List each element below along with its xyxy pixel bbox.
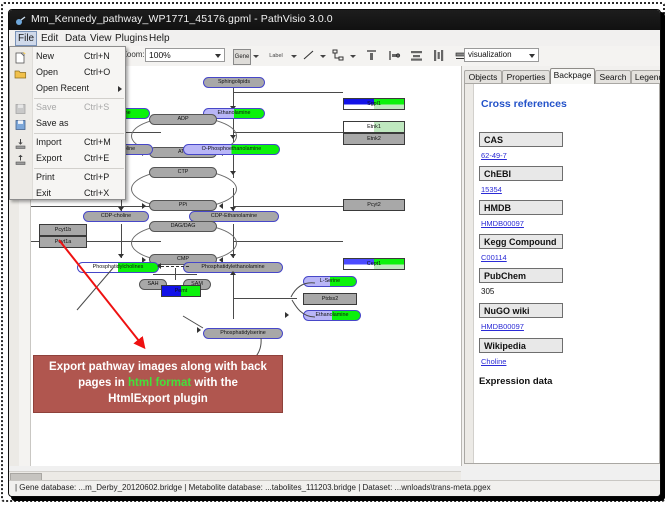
xref-value-pubchem: 305: [481, 287, 494, 296]
pathvisio-application-window: Mm_Kennedy_pathway_WP1771_45176.gpml - P…: [8, 9, 661, 497]
xref-label-chebi: ChEBI: [479, 166, 563, 181]
xref-value-wikipedia[interactable]: Choline: [481, 357, 506, 366]
xref-value-chebi[interactable]: 15354: [481, 185, 502, 194]
zoom-value: 100%: [149, 50, 171, 60]
chevron-down-icon: [215, 54, 221, 58]
menu-item-exit-accel: Ctrl+X: [84, 188, 109, 198]
submenu-arrow-icon: [118, 86, 122, 92]
menu-item-exit-label: Exit: [36, 188, 51, 198]
callout-highlight: html format: [128, 377, 191, 389]
callout-line-1: Export pathway images along with back: [34, 361, 282, 373]
callout-line-3: HtmlExport plugin: [34, 393, 282, 405]
menu-separator-3: [34, 168, 124, 169]
menu-view[interactable]: View: [87, 32, 115, 45]
menu-item-print[interactable]: Print Ctrl+P: [10, 171, 127, 185]
tab-backpage[interactable]: Backpage: [550, 68, 595, 84]
gene-pemt[interactable]: Pemt: [161, 285, 201, 297]
connector-dropdown-icon[interactable]: [350, 55, 356, 58]
arrow-to-ethanolamine-2: [285, 312, 289, 318]
new-document-icon: [14, 51, 27, 63]
node-o-phosphoethanolamine[interactable]: O-Phosphoethanolamine: [183, 144, 280, 155]
expression-data-heading: Expression data: [479, 376, 552, 387]
menu-item-save-as-label: Save as: [36, 118, 69, 128]
gene-pcyt1b[interactable]: Pcyt1b: [39, 224, 87, 236]
node-ppi[interactable]: PPi: [149, 200, 217, 211]
datanode-tool-button[interactable]: Gene: [233, 49, 251, 65]
xref-label-nugo: NuGO wiki: [479, 303, 563, 318]
tab-objects[interactable]: Objects: [464, 70, 502, 84]
menu-item-save-label: Save: [36, 102, 57, 112]
curved-edges-serine: [271, 271, 317, 326]
visualization-combobox[interactable]: visualization: [464, 48, 539, 62]
edge-sgpl1-connector: [233, 92, 343, 93]
menu-item-open-recent-label: Open Recent: [36, 83, 89, 93]
gene-sgpl1-label: Sgpl1: [367, 101, 381, 107]
xref-value-kegg[interactable]: C00114: [481, 253, 507, 262]
gene-etnk1[interactable]: Etnk1: [343, 121, 405, 133]
import-icon: [14, 137, 27, 149]
connector-tool-icon[interactable]: [331, 49, 345, 63]
menu-item-new-accel: Ctrl+N: [84, 51, 110, 61]
file-menu-dropdown[interactable]: New Ctrl+N Open Ctrl+O Open Recent Save: [9, 46, 126, 200]
gene-pcyt2[interactable]: Pcyt2: [343, 199, 405, 211]
menu-item-print-accel: Ctrl+P: [84, 172, 109, 182]
menu-separator-2: [34, 133, 124, 134]
callout-line-2: pages in html format with the: [34, 377, 282, 389]
edge-to-phosphatidylserine: [181, 314, 231, 334]
align-rows-icon[interactable]: [409, 49, 423, 63]
title-bar: Mm_Kennedy_pathway_WP1771_45176.gpml - P…: [9, 10, 660, 31]
gene-sgpl1[interactable]: Sgpl1: [343, 98, 405, 110]
status-bar: | Gene database: ...m_Derby_20120602.bri…: [9, 480, 660, 496]
menu-plugins[interactable]: Plugins: [112, 32, 151, 45]
pathvisio-icon: [15, 14, 27, 26]
gene-cept1-label: Cept1: [367, 261, 381, 267]
menu-item-import[interactable]: Import Ctrl+M: [10, 136, 127, 150]
chevron-down-icon: [529, 54, 535, 58]
menu-separator-1: [34, 98, 124, 99]
menu-item-exit[interactable]: Exit Ctrl+X: [10, 187, 127, 201]
open-folder-icon: [14, 67, 27, 79]
align-top-icon[interactable]: [364, 49, 378, 63]
menu-item-open[interactable]: Open Ctrl+O: [10, 66, 127, 80]
xref-label-kegg: Kegg Compound: [479, 234, 563, 249]
gene-etnk2[interactable]: Etnk2: [343, 133, 405, 145]
node-sphingolipids[interactable]: Sphingolipids: [203, 77, 265, 88]
menu-item-new[interactable]: New Ctrl+N: [10, 50, 127, 64]
backpage-scrollbar[interactable]: [465, 84, 474, 463]
cross-references-heading: Cross references: [481, 98, 567, 110]
edge-pcyt2-connector: [233, 206, 343, 207]
menu-help[interactable]: Help: [146, 32, 173, 45]
side-panel-tabs: Objects Properties Backpage Search Legen…: [464, 68, 660, 84]
menu-item-export[interactable]: Export Ctrl+E: [10, 152, 127, 166]
node-dag[interactable]: DAG/DAG: [149, 221, 217, 232]
menu-bar: File Edit Data View Plugins Help: [9, 30, 660, 47]
arrow-ope-to-cdpetn: [230, 171, 236, 175]
arrow-into-phosphatidylserine: [197, 327, 201, 333]
xref-label-wikipedia: Wikipedia: [479, 338, 563, 353]
menu-edit[interactable]: Edit: [38, 32, 61, 45]
menu-item-import-label: Import: [36, 137, 62, 147]
callout-line2-suffix: with the: [191, 377, 238, 389]
menu-file[interactable]: File: [15, 31, 37, 46]
edge-etnk-connector: [233, 132, 343, 133]
menu-item-open-recent[interactable]: Open Recent: [10, 82, 127, 96]
node-adp[interactable]: ADP: [149, 114, 217, 125]
arrow-into-ppi-right: [219, 203, 223, 209]
window-title: Mm_Kennedy_pathway_WP1771_45176.gpml - P…: [31, 13, 333, 25]
xref-value-hmdb[interactable]: HMDB00097: [481, 219, 524, 228]
node-cdp-choline[interactable]: CDP-choline: [83, 211, 149, 222]
menu-item-save: Save Ctrl+S: [10, 101, 127, 115]
xref-label-pubchem: PubChem: [479, 268, 563, 283]
menu-item-export-accel: Ctrl+E: [84, 153, 109, 163]
screenshot-root: Mm_Kennedy_pathway_WP1771_45176.gpml - P…: [0, 0, 670, 509]
gene-cept1[interactable]: Cept1: [343, 258, 405, 270]
xref-value-cas[interactable]: 62-49-7: [481, 151, 507, 160]
tab-legend[interactable]: Legend: [631, 70, 661, 84]
menu-item-print-label: Print: [36, 172, 55, 182]
backpage-content: Cross references CAS 62-49-7 ChEBI 15354…: [464, 83, 660, 464]
gene-pemt-label: Pemt: [175, 288, 188, 294]
status-text: | Gene database: ...m_Derby_20120602.bri…: [15, 483, 491, 492]
edge-cept1-connector: [233, 241, 343, 242]
line-tool-icon[interactable]: [301, 49, 315, 63]
menu-item-open-accel: Ctrl+O: [84, 67, 110, 77]
xref-label-hmdb: HMDB: [479, 200, 563, 215]
edge-pe-down-to-ps: [233, 273, 234, 319]
node-ctp[interactable]: CTP: [149, 167, 217, 178]
menu-item-open-label: Open: [36, 67, 58, 77]
save-disk-icon: [14, 102, 27, 114]
callout-line2-prefix: pages in: [78, 377, 128, 389]
line-dropdown-icon[interactable]: [320, 55, 326, 58]
xref-value-nugo[interactable]: HMDB00097: [481, 322, 524, 331]
align-left-icon[interactable]: [387, 49, 401, 63]
tab-properties[interactable]: Properties: [502, 70, 550, 84]
datanode-dropdown-icon[interactable]: [253, 55, 259, 58]
menu-item-save-as[interactable]: Save as: [10, 117, 127, 131]
tab-search[interactable]: Search: [595, 70, 631, 84]
annotation-callout: Export pathway images along with back pa…: [33, 355, 283, 413]
label-dropdown-icon[interactable]: [291, 55, 297, 58]
arrow-up-to-pe: [230, 271, 236, 275]
side-panel: Objects Properties Backpage Search Legen…: [462, 66, 661, 466]
menu-item-save-accel: Ctrl+S: [84, 102, 109, 112]
zoom-combobox[interactable]: 100%: [145, 48, 225, 62]
arrow-to-pe: [230, 254, 236, 258]
menu-item-export-label: Export: [36, 153, 62, 163]
menu-item-new-label: New: [36, 51, 54, 61]
menu-data[interactable]: Data: [62, 32, 89, 45]
arrow-into-ppi: [142, 203, 146, 209]
label-tool-button[interactable]: Label: [265, 49, 287, 63]
export-icon: [14, 153, 27, 165]
visualization-value: visualization: [468, 50, 512, 59]
xref-label-cas: CAS: [479, 132, 563, 147]
menu-item-import-accel: Ctrl+M: [84, 137, 111, 147]
save-as-icon: [14, 118, 27, 130]
align-columns-icon[interactable]: [431, 49, 445, 63]
red-pointer-arrow: [57, 238, 167, 358]
